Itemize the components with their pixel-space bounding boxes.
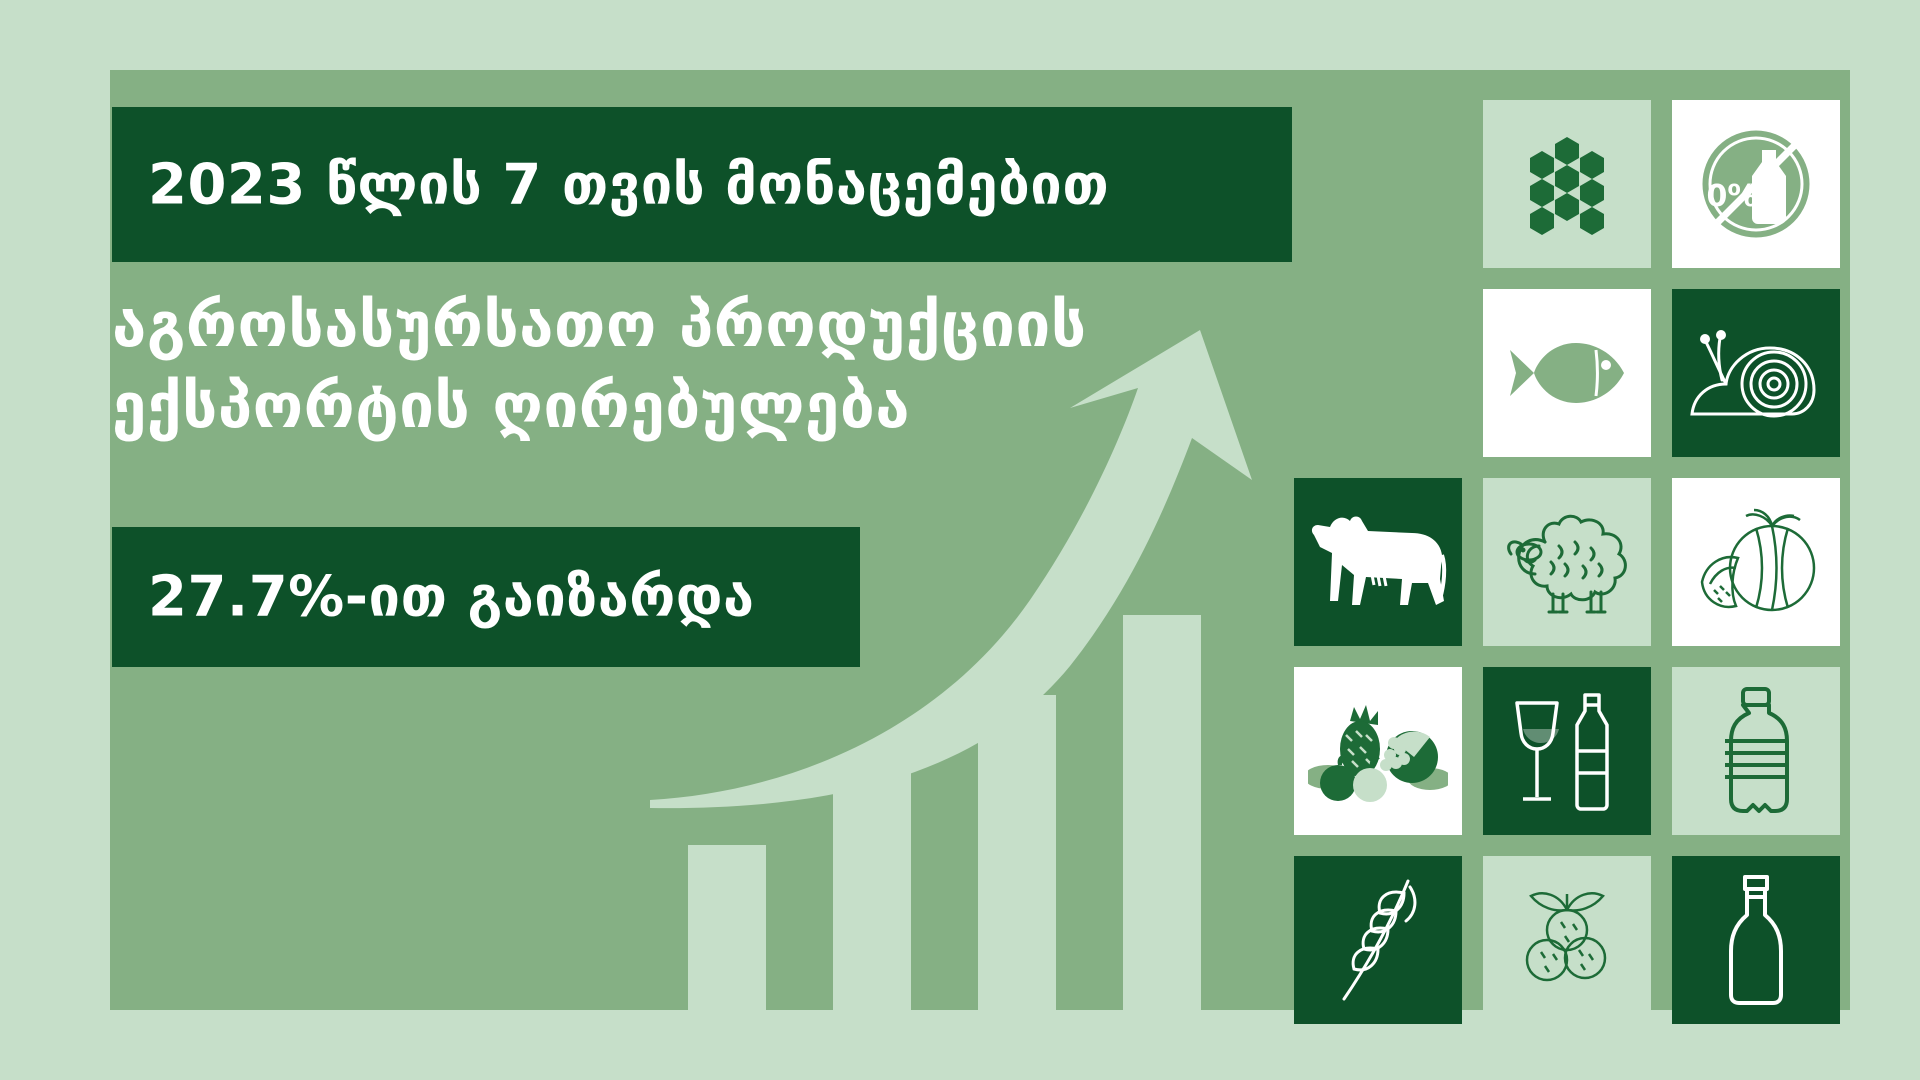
cow-icon: [1308, 509, 1448, 615]
no-alcohol-0-percent-icon: 0%: [1692, 120, 1820, 248]
title-box: 2023 წლის 7 თვის მონაცემებით: [112, 107, 1292, 262]
icon-tile-cattle: [1294, 478, 1462, 646]
icon-tile-herbs: [1294, 856, 1462, 1024]
fruits-vegetables-icon: [1308, 697, 1448, 805]
sheep-icon: [1499, 506, 1635, 618]
title-text: 2023 წლის 7 თვის მონაცემებით: [148, 152, 1109, 217]
snail-icon: [1688, 318, 1824, 428]
dark-bottle-icon: [1721, 873, 1791, 1007]
wine-bottle-glass-icon: [1511, 689, 1623, 813]
melon-icon: [1688, 506, 1824, 618]
honeycomb-icon: [1512, 129, 1622, 239]
icon-grid: 0%: [1294, 100, 1839, 990]
icon-tile-hazelnuts: [1483, 856, 1651, 1024]
stat-box: 27.7%-ით გაიზარდა: [112, 527, 860, 667]
icon-tile-honey: [1483, 100, 1651, 268]
icon-tile-mineral-water: [1672, 667, 1840, 835]
hazelnut-icon: [1503, 884, 1631, 996]
infographic-canvas: 2023 წლის 7 თვის მონაცემებით აგროსასურსა…: [0, 0, 1920, 1080]
zero-percent-badge: 0%: [1707, 179, 1758, 214]
icon-tile-snail: [1672, 289, 1840, 457]
herb-branch-icon: [1322, 875, 1434, 1005]
headline-line-1: აგროსასურსათო პროდუქციის: [112, 285, 1292, 366]
chart-bar-1: [688, 845, 766, 1010]
icon-tile-wine: [1483, 667, 1651, 835]
icon-tile-non-alcoholic: 0%: [1672, 100, 1840, 268]
icon-tile-melon: [1672, 478, 1840, 646]
icon-tile-sheep: [1483, 478, 1651, 646]
headline: აგროსასურსათო პროდუქციის ექსპორტის ღირებ…: [112, 285, 1292, 446]
stat-text: 27.7%-ით გაიზარდა: [148, 565, 755, 630]
icon-tile-fruits-vegetables: [1294, 667, 1462, 835]
headline-line-2: ექსპორტის ღირებულება: [112, 366, 1292, 447]
icon-tile-spirits: [1672, 856, 1840, 1024]
water-bottle-icon: [1717, 685, 1795, 817]
icon-tile-fish: [1483, 289, 1651, 457]
fish-icon: [1502, 328, 1632, 418]
